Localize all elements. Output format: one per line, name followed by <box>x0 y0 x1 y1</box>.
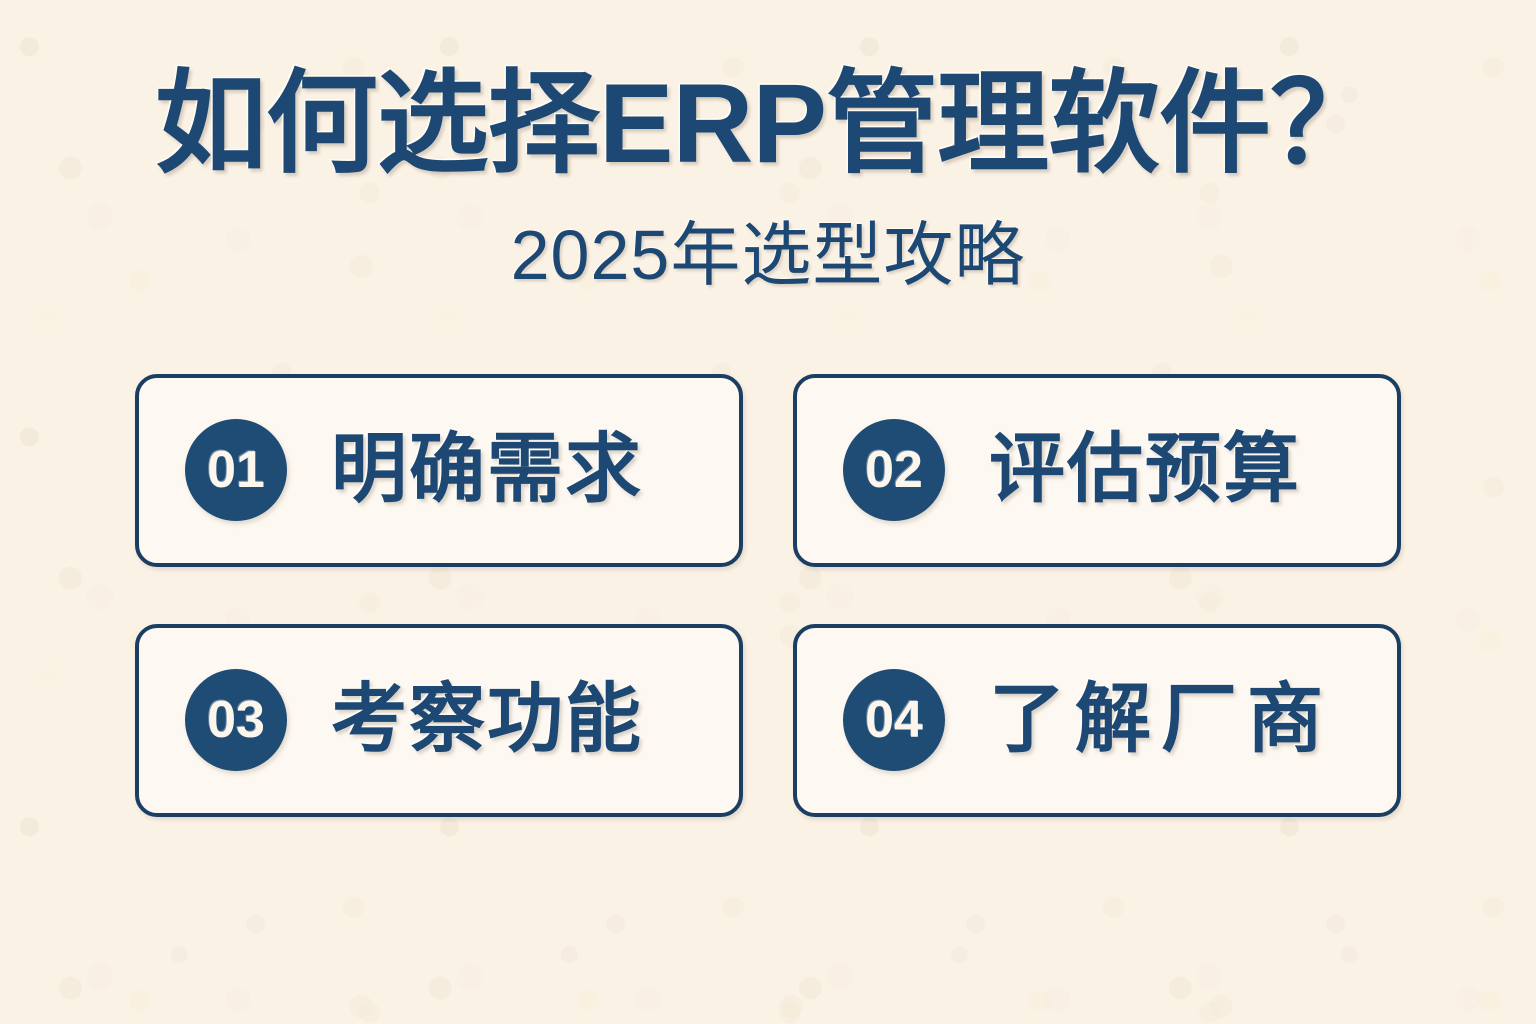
step-number-badge-01: 01 <box>185 419 287 521</box>
step-label-03: 考察功能 <box>331 682 643 758</box>
poster-header: 如何选择ERP管理软件？ 2025年选型攻略 <box>0 0 1536 297</box>
step-number-01: 01 <box>207 444 265 496</box>
page-subtitle: 2025年选型攻略 <box>0 214 1536 297</box>
poster-canvas: 如何选择ERP管理软件？ 2025年选型攻略 01 明确需求 02 评估预算 0… <box>0 0 1536 1024</box>
step-number-badge-02: 02 <box>843 419 945 521</box>
step-label-01: 明确需求 <box>331 432 643 508</box>
step-number-badge-04: 04 <box>843 669 945 771</box>
step-label-04: 了解厂商 <box>989 682 1333 758</box>
steps-grid: 01 明确需求 02 评估预算 03 考察功能 04 了解厂商 <box>135 374 1401 817</box>
step-label-02: 评估预算 <box>989 432 1301 508</box>
step-number-04: 04 <box>865 694 923 746</box>
step-number-02: 02 <box>865 444 923 496</box>
step-number-badge-03: 03 <box>185 669 287 771</box>
step-card-02[interactable]: 02 评估预算 <box>793 374 1401 567</box>
step-number-03: 03 <box>207 694 265 746</box>
step-card-04[interactable]: 04 了解厂商 <box>793 624 1401 817</box>
page-title: 如何选择ERP管理软件？ <box>0 58 1536 190</box>
step-card-03[interactable]: 03 考察功能 <box>135 624 743 817</box>
step-card-01[interactable]: 01 明确需求 <box>135 374 743 567</box>
